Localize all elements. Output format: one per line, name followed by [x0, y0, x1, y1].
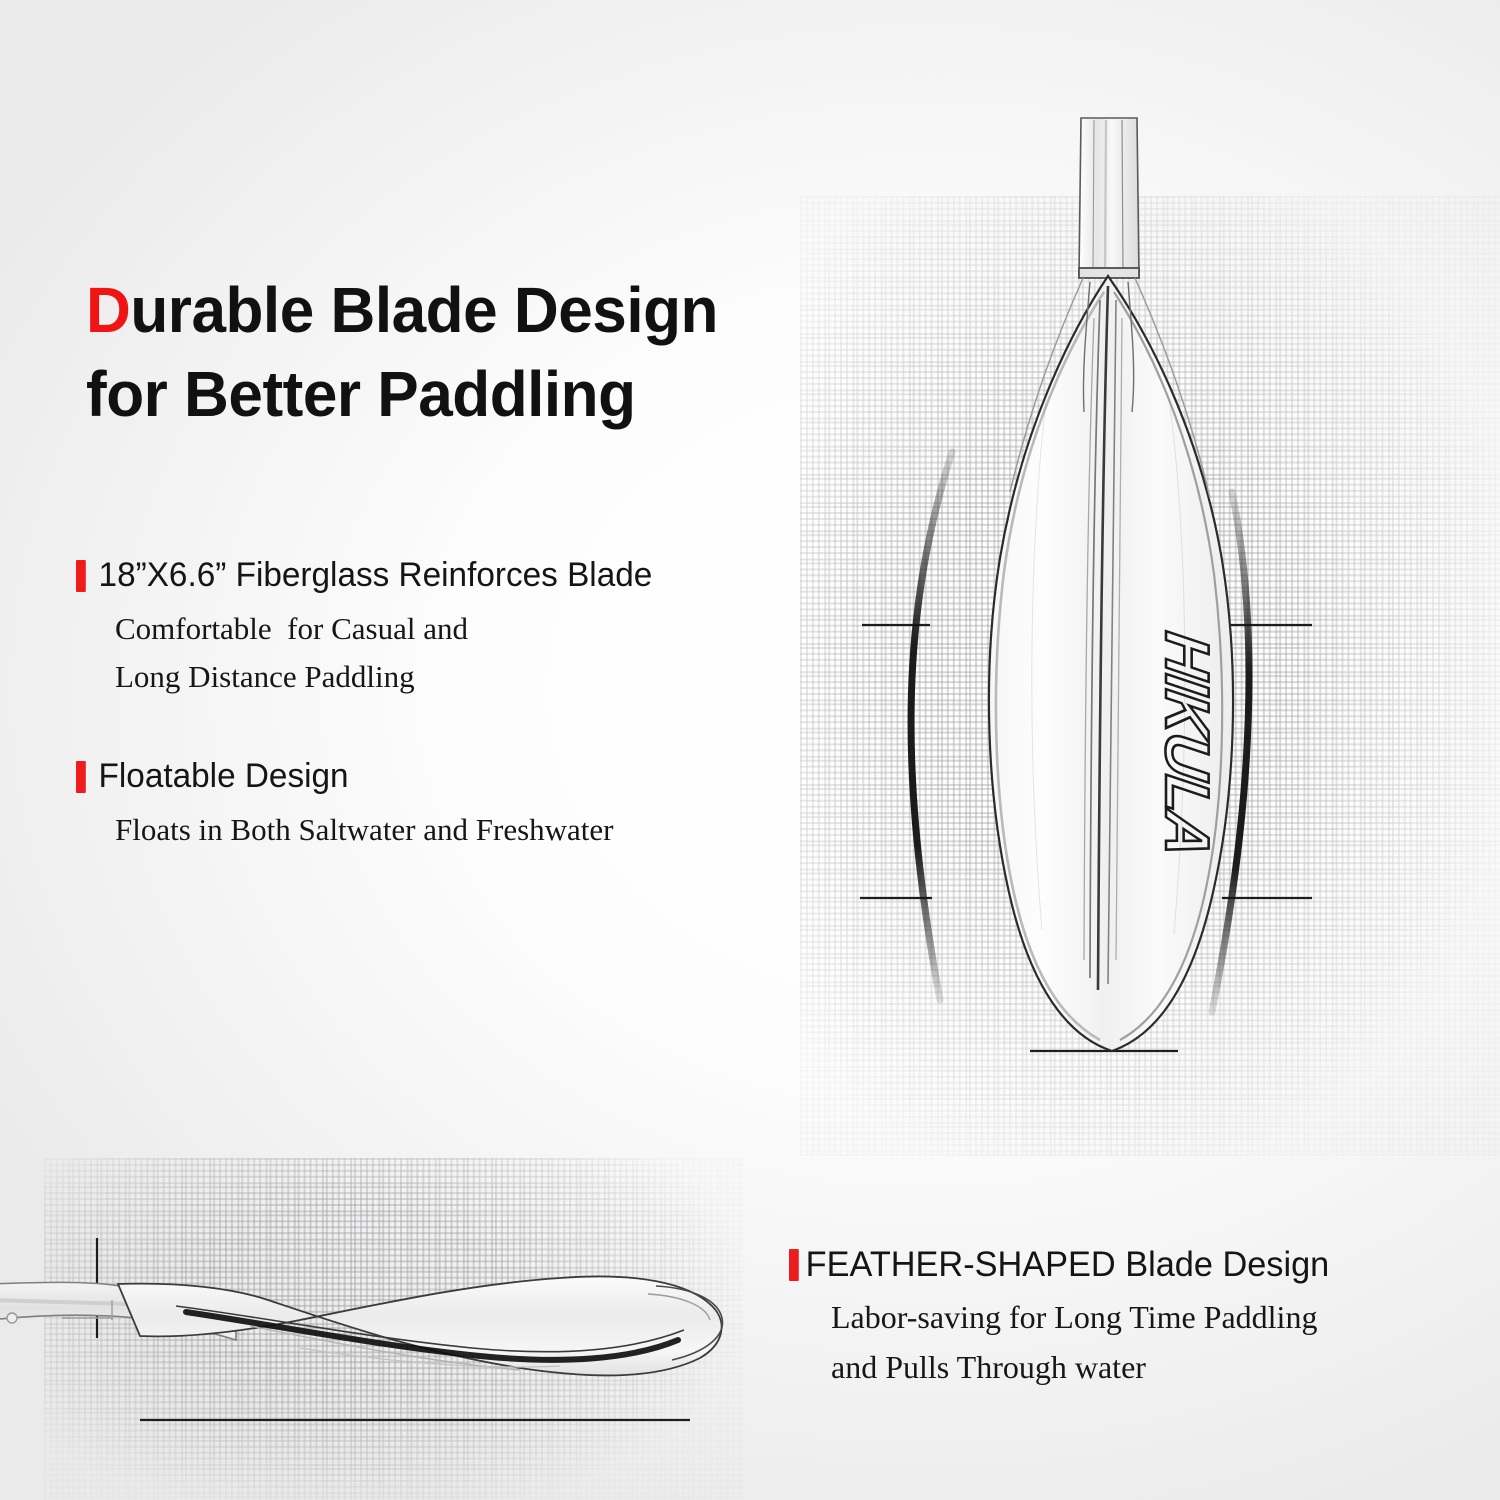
infographic-canvas: HIKULA	[0, 0, 1500, 1500]
side-shaft	[0, 1282, 236, 1340]
paddle-shaft-front	[1079, 118, 1139, 278]
feature-2-sub-line1: Floats in Both Saltwater and Freshwater	[115, 808, 614, 852]
feature-3-heading-row: FEATHER-SHAPED Blade Design	[789, 1245, 1329, 1285]
right-curvature-arc	[1212, 492, 1249, 1012]
feature-fiberglass-blade: 18”X6.6” Fiberglass Reinforces Blade Com…	[76, 556, 664, 699]
side-blade-body	[118, 1276, 722, 1375]
shaft-button-detail	[7, 1313, 17, 1323]
paddle-blade-front	[989, 276, 1233, 1051]
feature-1-heading: 18”X6.6” Fiberglass Reinforces Blade	[99, 556, 653, 595]
title-accent-letter: D	[86, 274, 130, 346]
title-line1-rest: urable Blade Design	[130, 274, 718, 346]
brand-logo-hikula: HIKULA	[1152, 628, 1221, 860]
feature-feather-shaped-design: FEATHER-SHAPED Blade Design Labor-saving…	[789, 1245, 1340, 1390]
feature-2-heading-row: Floatable Design	[76, 757, 603, 796]
feature-3-sub-line1: Labor-saving for Long Time Paddling	[831, 1295, 1340, 1340]
blueprint-grid-top	[800, 196, 1500, 1156]
dimension-lines-front	[860, 625, 1312, 1051]
red-bullet-marker-icon	[76, 560, 86, 592]
red-bullet-marker-icon	[789, 1249, 799, 1281]
blueprint-grid-bottom	[44, 1158, 744, 1500]
paddle-side-profile	[0, 1238, 723, 1420]
feature-1-sub-line1: Comfortable for Casual and	[115, 607, 664, 651]
feature-1-sub-line2: Long Distance Paddling	[115, 655, 664, 699]
shaft-ferrule	[1079, 268, 1139, 278]
svg-text:HIKULA: HIKULA	[1152, 628, 1221, 860]
left-curvature-arc	[911, 452, 952, 1000]
side-blade-scoop-edge	[186, 1312, 678, 1360]
feature-3-heading: FEATHER-SHAPED Blade Design	[806, 1245, 1330, 1285]
feature-2-heading: Floatable Design	[99, 757, 349, 796]
feature-3-sub-line2: and Pulls Through water	[831, 1345, 1340, 1390]
feature-floatable-design: Floatable Design Floats in Both Saltwate…	[76, 757, 614, 852]
page-title: Durable Blade Design for Better Paddling	[86, 268, 823, 437]
title-line2: for Better Paddling	[86, 358, 636, 430]
side-blade-tip	[656, 1286, 723, 1360]
red-bullet-marker-icon	[76, 761, 86, 793]
blade-center-spine	[1010, 278, 1210, 990]
feature-1-heading-row: 18”X6.6” Fiberglass Reinforces Blade	[76, 556, 652, 595]
